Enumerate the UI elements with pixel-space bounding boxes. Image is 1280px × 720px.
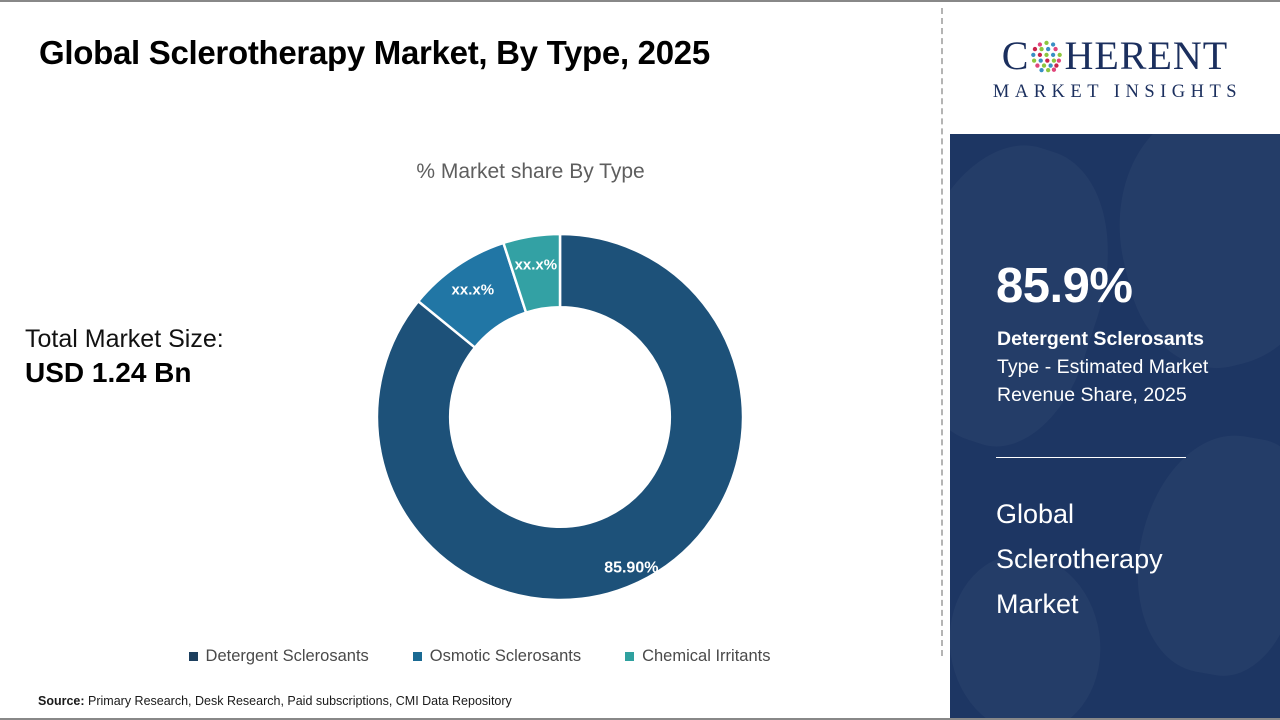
stat-description: Type - Estimated Market Revenue Share, 2… <box>997 354 1247 409</box>
legend-item-chemical-irritants[interactable]: Chemical Irritants <box>625 647 770 666</box>
stat-panel: 85.9% Detergent Sclerosants Type - Estim… <box>950 134 1280 718</box>
chart-subtitle: % Market share By Type <box>0 160 941 184</box>
globe-icon <box>1030 40 1063 73</box>
legend-item-detergent-sclerosants[interactable]: Detergent Sclerosants <box>189 647 369 666</box>
donut-chart-svg: 85.90%xx.x%xx.x% <box>377 234 743 600</box>
source-prefix: Source: <box>38 694 85 708</box>
total-market-size-label: Total Market Size: <box>25 324 325 355</box>
brand-logo-herent: HERENT <box>1064 36 1228 76</box>
total-market-size-block: Total Market Size: USD 1.24 Bn <box>25 324 325 390</box>
total-market-size-value: USD 1.24 Bn <box>25 355 325 390</box>
source-text: Primary Research, Desk Research, Paid su… <box>85 694 512 708</box>
legend-swatch-icon <box>189 652 198 661</box>
main-content-area: Global Sclerotherapy Market, By Type, 20… <box>0 2 941 718</box>
donut-slices <box>377 234 743 600</box>
panel-dashed-divider <box>941 8 943 656</box>
right-panel: C <box>950 2 1280 718</box>
panel-market-name: Global Sclerotherapy Market <box>996 492 1246 627</box>
donut-slice-label: xx.x% <box>452 282 495 299</box>
brand-logo-c: C <box>1002 36 1030 76</box>
source-line: Source: Primary Research, Desk Research,… <box>38 694 512 708</box>
stat-segment-name: Detergent Sclerosants <box>997 328 1204 350</box>
infographic-page: Global Sclerotherapy Market, By Type, 20… <box>0 0 1280 720</box>
chart-legend: Detergent Sclerosants Osmotic Sclerosant… <box>0 647 941 666</box>
brand-logo-tagline: MARKET INSIGHTS <box>988 82 1242 103</box>
page-title: Global Sclerotherapy Market, By Type, 20… <box>39 34 710 72</box>
legend-item-osmotic-sclerosants[interactable]: Osmotic Sclerosants <box>413 647 581 666</box>
panel-divider <box>996 457 1186 458</box>
legend-swatch-icon <box>413 652 422 661</box>
brand-logo: C <box>950 4 1280 134</box>
donut-slice-label: xx.x% <box>515 257 558 274</box>
donut-chart: 85.90%xx.x%xx.x% <box>377 234 743 600</box>
legend-swatch-icon <box>625 652 634 661</box>
donut-slice-label: 85.90% <box>604 559 658 576</box>
legend-item-label: Detergent Sclerosants <box>206 647 369 666</box>
legend-item-label: Osmotic Sclerosants <box>430 647 581 666</box>
legend-item-label: Chemical Irritants <box>642 647 770 666</box>
stat-percent-value: 85.9% <box>996 262 1132 311</box>
brand-logo-wordmark: C <box>1002 36 1228 76</box>
